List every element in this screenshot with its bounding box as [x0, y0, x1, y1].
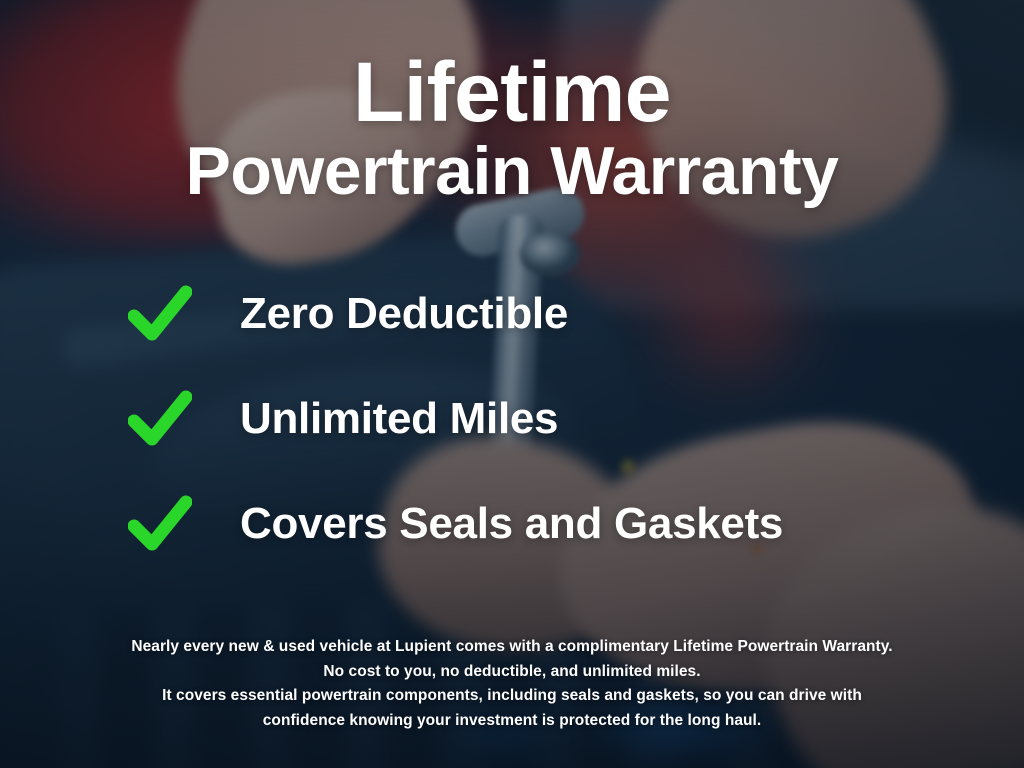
footnote-line-3: It covers essential powertrain component…: [22, 684, 1002, 709]
feature-label-covers-seals-and-gaskets: Covers Seals and Gaskets: [240, 499, 783, 549]
footnote-line-1: Nearly every new & used vehicle at Lupie…: [22, 635, 1002, 660]
lifetime-warranty-banner: Lifetime Powertrain Warranty Zero Deduct…: [0, 0, 1024, 768]
feature-item-covers-seals-and-gaskets: Covers Seals and Gaskets: [128, 493, 928, 555]
green-check-icon: [128, 494, 192, 554]
headline-line-1: Lifetime: [0, 52, 1024, 133]
feature-label-zero-deductible: Zero Deductible: [240, 289, 568, 339]
green-check-icon: [128, 284, 192, 344]
footnote-line-2: No cost to you, no deductible, and unlim…: [22, 660, 1002, 685]
feature-item-unlimited-miles: Unlimited Miles: [128, 388, 928, 450]
feature-item-zero-deductible: Zero Deductible: [128, 283, 928, 345]
headline: Lifetime Powertrain Warranty: [0, 52, 1024, 205]
green-check-icon: [128, 389, 192, 449]
headline-line-2: Powertrain Warranty: [0, 139, 1024, 205]
feature-list: Zero Deductible Unlimited Miles Covers S…: [128, 283, 928, 555]
footnote-line-4: confidence knowing your investment is pr…: [22, 709, 1002, 734]
banner-content: Lifetime Powertrain Warranty Zero Deduct…: [0, 0, 1024, 768]
footnote: Nearly every new & used vehicle at Lupie…: [0, 635, 1024, 734]
feature-label-unlimited-miles: Unlimited Miles: [240, 394, 558, 444]
